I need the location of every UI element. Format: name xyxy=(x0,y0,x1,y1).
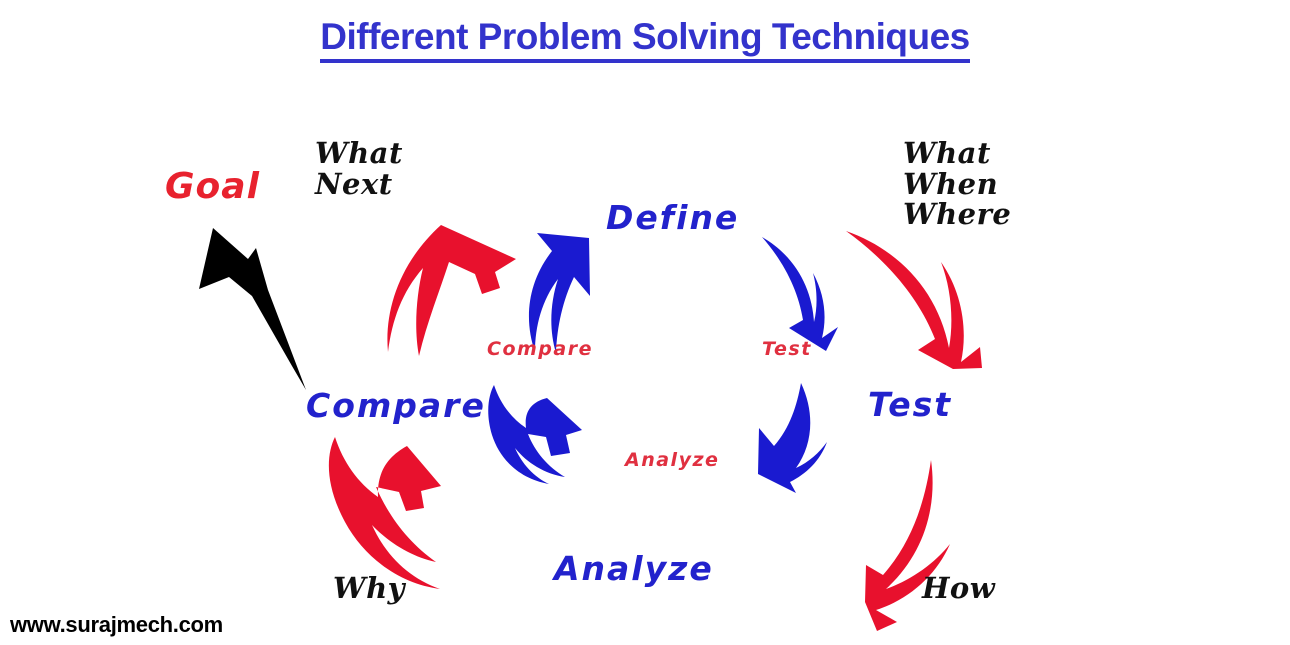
inner-label-compare: Compare xyxy=(487,339,593,359)
inner-label-analyze: Analyze xyxy=(625,450,719,470)
label-goal: Goal xyxy=(165,168,260,206)
arrow-inner-test-to-analyze-icon xyxy=(758,383,827,493)
stage-label-compare: Compare xyxy=(306,389,486,424)
site-watermark: www.surajmech.com xyxy=(10,612,223,638)
arrow-compare-to-goal-icon xyxy=(199,228,306,390)
stage-label-define: Define xyxy=(606,201,739,236)
arrow-inner-compare-to-define-icon xyxy=(529,233,590,353)
stage-label-test: Test xyxy=(868,388,952,423)
label-what-next: What Next xyxy=(315,138,403,199)
label-what-when-where: What When Where xyxy=(903,138,1011,230)
arrow-outer-compare-to-define-icon xyxy=(387,225,516,356)
arrow-inner-analyze-to-compare-icon xyxy=(488,385,582,484)
inner-label-test: Test xyxy=(762,339,812,359)
label-how: How xyxy=(922,573,995,604)
diagram-page: Different Problem Solving Techniques xyxy=(0,0,1290,645)
arrow-inner-define-to-test-icon xyxy=(762,237,838,351)
arrow-outer-define-to-test-icon xyxy=(846,231,982,369)
label-why: Why xyxy=(333,573,405,604)
stage-label-analyze: Analyze xyxy=(554,552,714,587)
arrow-outer-analyze-to-compare-icon xyxy=(329,437,441,589)
arrow-outer-test-to-analyze-icon xyxy=(865,460,950,631)
